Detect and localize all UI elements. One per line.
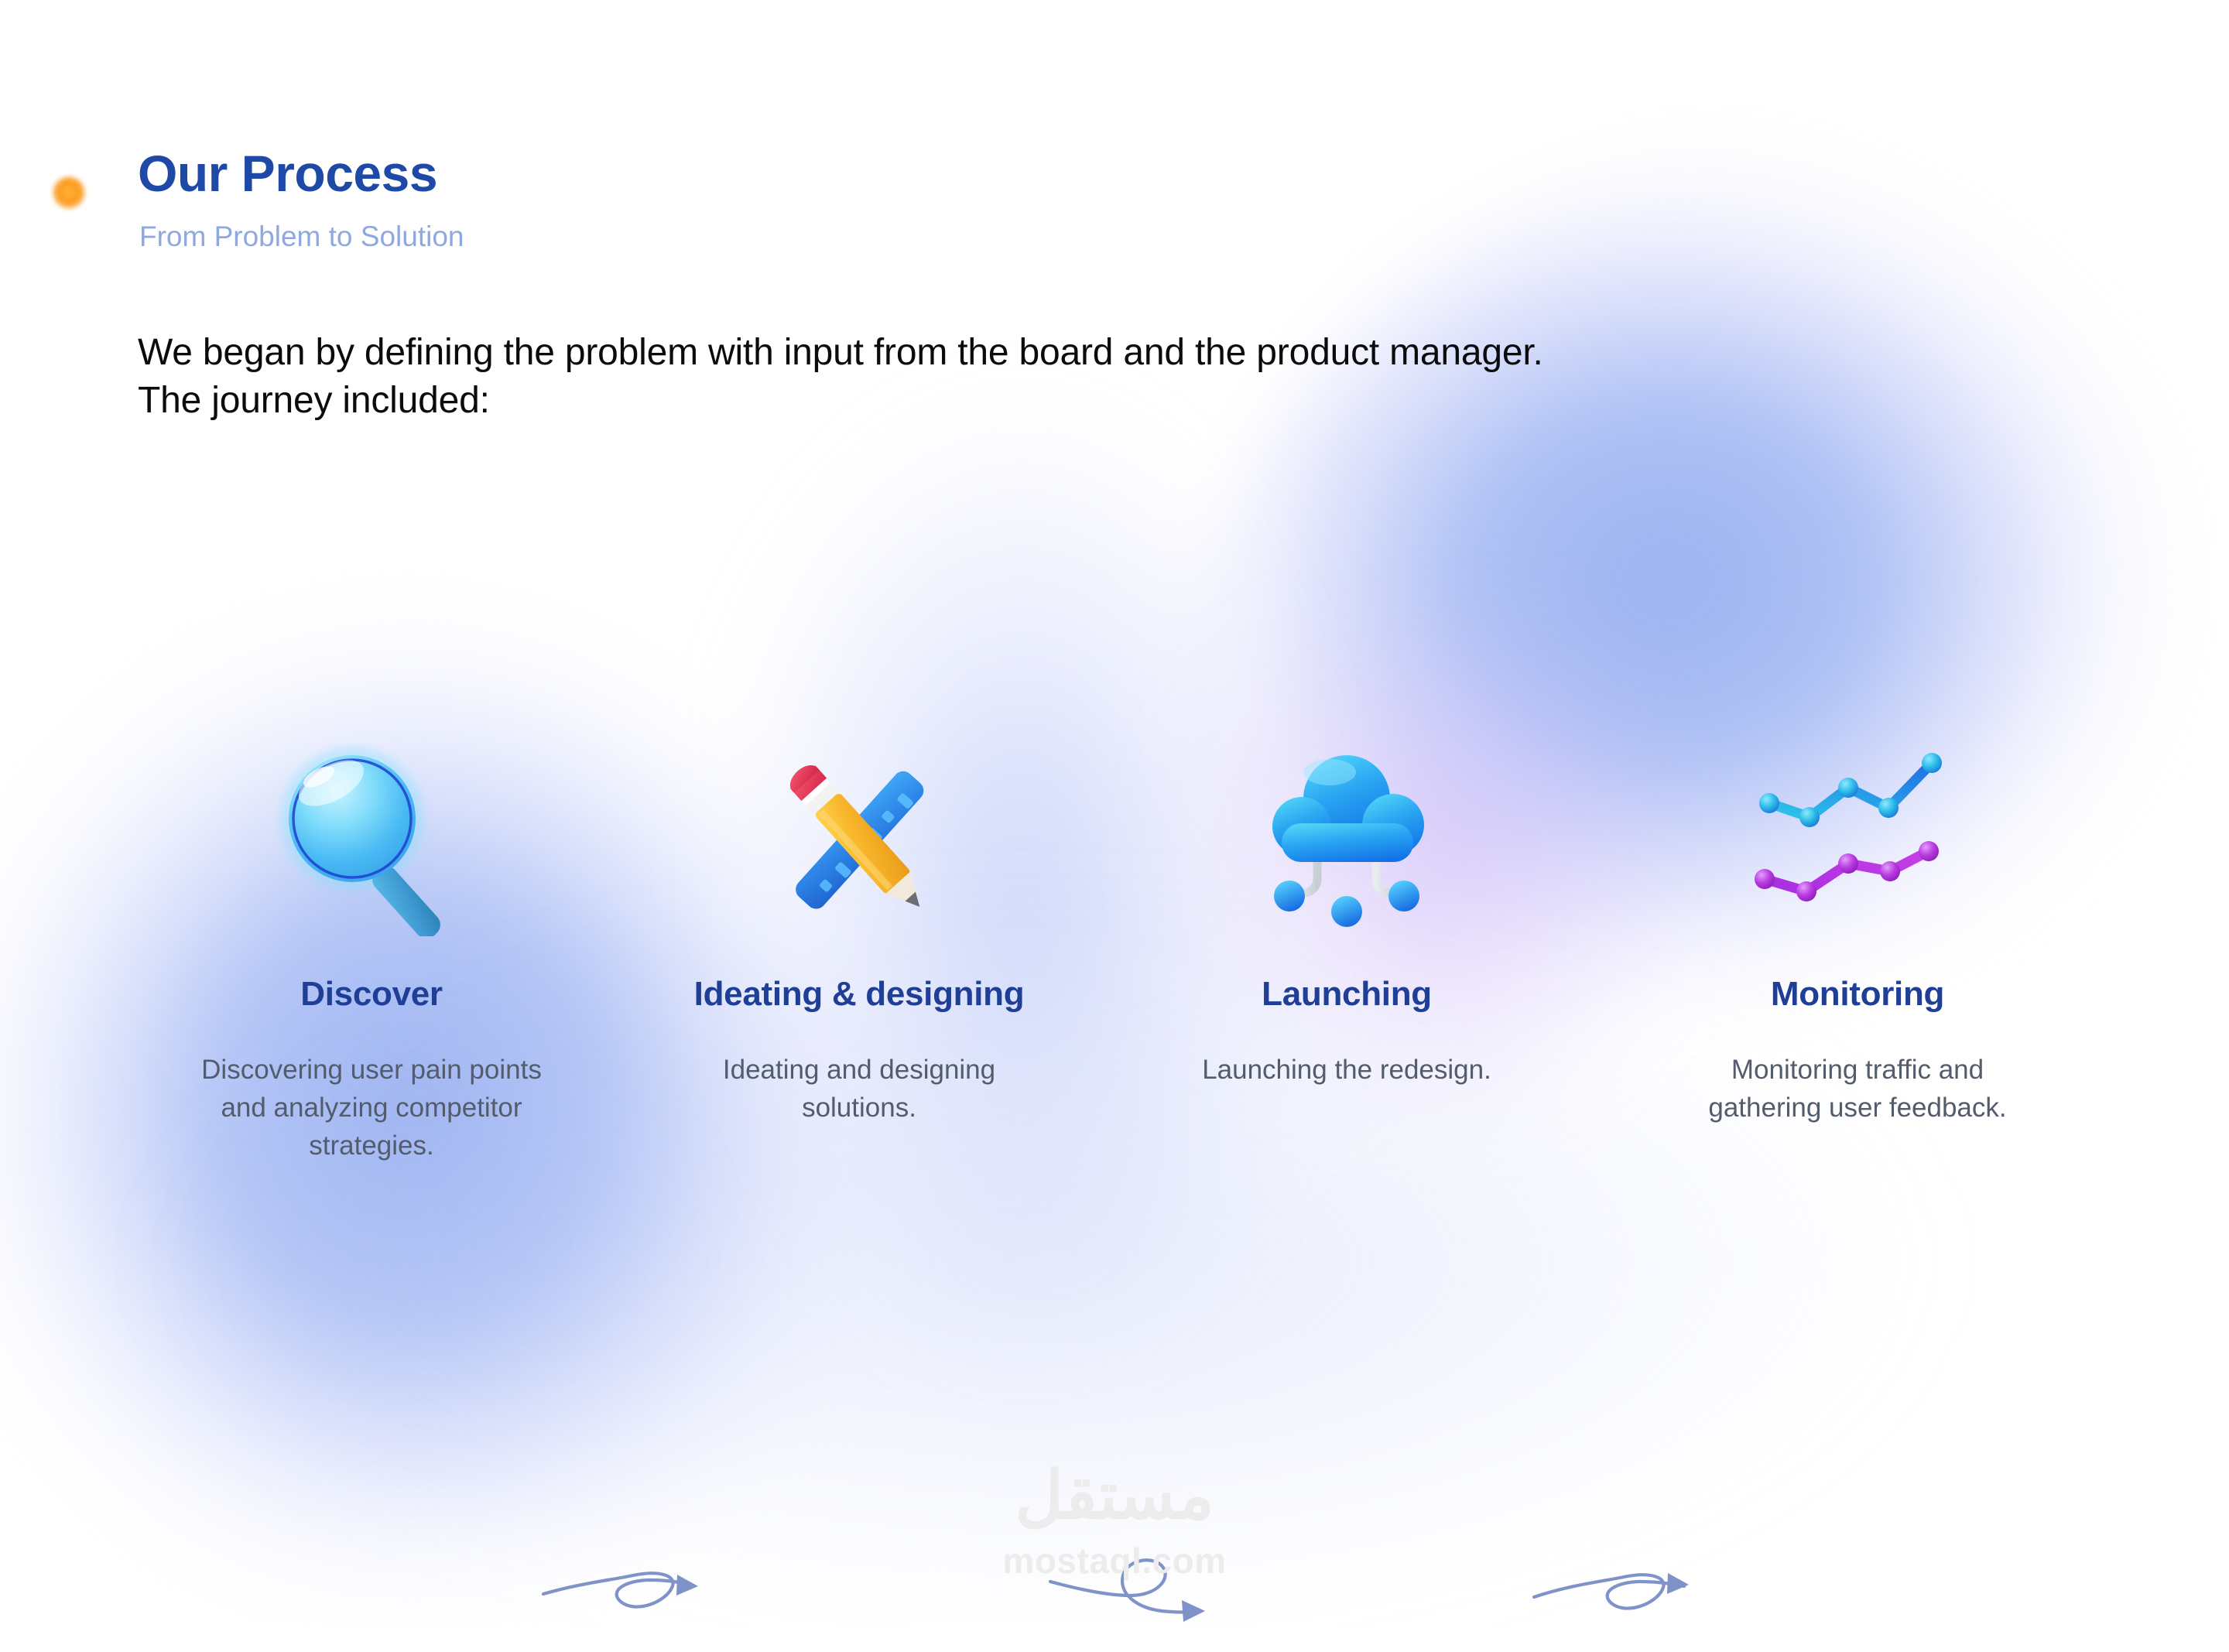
- process-step-discover[interactable]: Discover Discovering user pain points an…: [155, 735, 588, 1165]
- step-description: Launching the redesign.: [1130, 1051, 1563, 1089]
- step-title: Ideating & designing: [642, 975, 1076, 1014]
- page-subtitle: From Problem to Solution: [139, 221, 464, 253]
- line-chart-icon: [1641, 735, 2074, 944]
- cloud-network-icon: [1130, 735, 1563, 944]
- step-description: Discovering user pain points and analyzi…: [155, 1051, 588, 1165]
- step-title: Launching: [1130, 975, 1563, 1014]
- ruler-pencil-icon: [642, 735, 1076, 944]
- watermark-arabic-text: مستقل: [0, 1462, 2229, 1529]
- watermark: مستقل mostaql.com: [0, 1462, 2229, 1582]
- step-description: Ideating and designing solutions.: [642, 1051, 1076, 1127]
- magnifying-glass-icon: [155, 735, 588, 944]
- step-description: Monitoring traffic and gathering user fe…: [1641, 1051, 2074, 1127]
- step-title: Discover: [155, 975, 588, 1014]
- process-step-monitoring[interactable]: Monitoring Monitoring traffic and gather…: [1641, 735, 2074, 1127]
- process-step-launching[interactable]: Launching Launching the redesign.: [1130, 735, 1563, 1089]
- intro-paragraph: We began by defining the problem with in…: [138, 329, 2119, 426]
- accent-dot-icon: [53, 176, 85, 209]
- process-step-ideating-designing[interactable]: Ideating & designing Ideating and design…: [642, 735, 1076, 1127]
- page-title: Our Process: [138, 144, 437, 203]
- step-title: Monitoring: [1641, 975, 2074, 1014]
- process-steps: Discover Discovering user pain points an…: [0, 735, 2229, 1277]
- watermark-latin-text: mostaql.com: [0, 1540, 2229, 1582]
